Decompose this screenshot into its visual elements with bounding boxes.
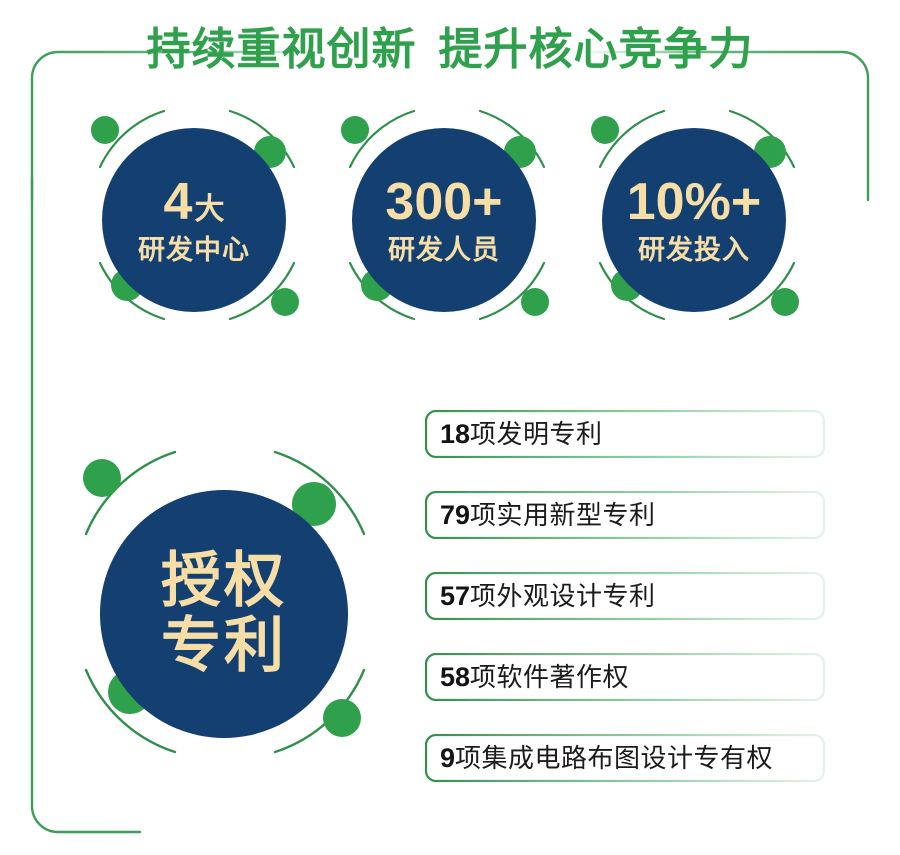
- patent-count: 58: [440, 664, 470, 691]
- stat-value-rd-staff: 300+: [385, 176, 502, 228]
- patents-badge-line2: 专利: [161, 614, 287, 679]
- patent-label: 项发明专利: [470, 421, 603, 447]
- stat-value-rd-investment: 10%+: [627, 176, 761, 228]
- stat-label-rd-investment: 研发投入: [638, 237, 750, 264]
- page-title-part-2: 提升核心竞争力: [439, 25, 754, 74]
- stat-label-rd-centers: 研发中心: [138, 237, 250, 264]
- patent-list: 18项发明专利 79项实用新型专利: [425, 410, 825, 782]
- patent-count: 79: [440, 502, 470, 529]
- page-title-part-1: 持续重视创新: [147, 25, 417, 74]
- patent-count: 9: [440, 745, 455, 772]
- patent-label: 项外观设计专利: [470, 583, 656, 609]
- page-title: 持续重视创新提升核心竞争力: [0, 22, 900, 78]
- stat-unit: 大: [194, 193, 224, 226]
- patent-list-item[interactable]: 79项实用新型专利: [425, 491, 825, 539]
- stat-card-authorized-patents: 授权 专利: [60, 442, 390, 762]
- patent-label: 项实用新型专利: [470, 502, 656, 528]
- patent-count: 18: [440, 421, 470, 448]
- stat-value-rd-centers: 4大: [164, 176, 225, 228]
- stat-card-rd-staff: 300+ 研发人员: [332, 105, 562, 325]
- infographic-root: 持续重视创新提升核心竞争力 4大 研发中心: [0, 0, 900, 855]
- stat-card-rd-investment: 10%+ 研发投入: [582, 105, 812, 325]
- patent-list-item[interactable]: 58项软件著作权: [425, 653, 825, 701]
- stat-label-rd-staff: 研发人员: [388, 237, 500, 264]
- patent-list-item[interactable]: 18项发明专利: [425, 410, 825, 458]
- patent-label: 项软件著作权: [470, 664, 629, 690]
- patent-list-item[interactable]: 9项集成电路布图设计专有权: [425, 734, 825, 782]
- stat-circle-rd-investment: 10%+ 研发投入: [602, 128, 786, 312]
- patent-label: 项集成电路布图设计专有权: [455, 745, 773, 771]
- stat-number: 4: [164, 173, 193, 231]
- stat-circle-rd-centers: 4大 研发中心: [102, 128, 286, 312]
- patent-list-item[interactable]: 57项外观设计专利: [425, 572, 825, 620]
- stat-card-rd-centers: 4大 研发中心: [82, 105, 312, 325]
- patent-count: 57: [440, 583, 470, 610]
- stat-circle-authorized-patents: 授权 专利: [100, 490, 348, 738]
- patents-badge-line1: 授权: [161, 549, 287, 614]
- stat-circle-rd-staff: 300+ 研发人员: [352, 128, 536, 312]
